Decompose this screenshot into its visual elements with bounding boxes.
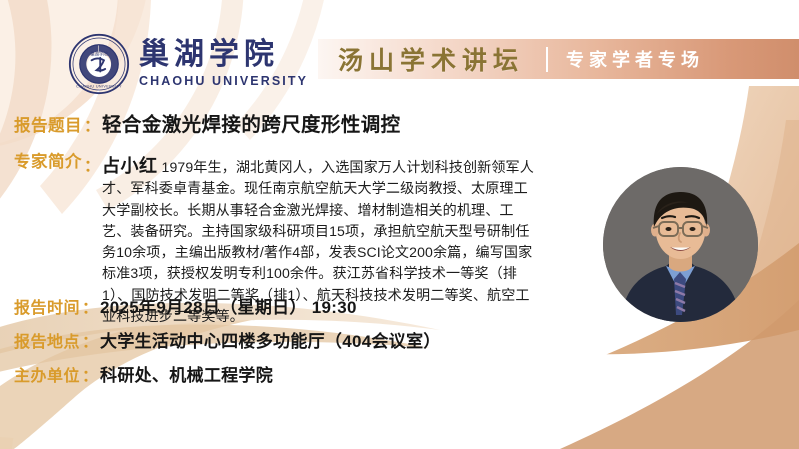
topic-label: 报告题目 — [14, 112, 82, 136]
place-row: 报告地点 ： 大学生活动中心四楼多功能厅（404会议室） — [14, 327, 441, 352]
place-value: 大学生活动中心四楼多功能厅（404会议室） — [100, 327, 441, 352]
speaker-portrait-illustration — [603, 167, 758, 322]
time-label: 报告时间 — [14, 294, 80, 318]
speaker-label: 专家简介 — [14, 152, 82, 173]
topic-colon: ： — [82, 112, 102, 136]
poster-content: 报告题目 ： 轻合金激光焊接的跨尺度形性调控 专家简介 ： 占小红 1979年生… — [0, 0, 799, 449]
speaker-colon: ： — [82, 152, 102, 176]
host-label: 主办单位 — [14, 362, 80, 386]
host-row: 主办单位 ： 科研处、机械工程学院 — [14, 361, 273, 386]
topic-value: 轻合金激光焊接的跨尺度形性调控 — [102, 108, 401, 137]
host-colon: ： — [80, 362, 100, 386]
lecture-poster: 巢湖学院 CHAOHU UNIVERSITY 巢湖学院 CHAOHU UNIVE… — [0, 0, 799, 449]
time-value: 2025年9月28日（星期日） 19:30 — [100, 293, 357, 318]
speaker-portrait — [603, 167, 758, 322]
place-label: 报告地点 — [14, 328, 80, 352]
time-colon: ： — [80, 294, 100, 318]
topic-row: 报告题目 ： 轻合金激光焊接的跨尺度形性调控 — [14, 108, 401, 137]
speaker-name: 占小红 — [102, 156, 158, 176]
host-value: 科研处、机械工程学院 — [100, 361, 273, 386]
time-row: 报告时间 ： 2025年9月28日（星期日） 19:30 — [14, 293, 357, 318]
place-colon: ： — [80, 328, 100, 352]
